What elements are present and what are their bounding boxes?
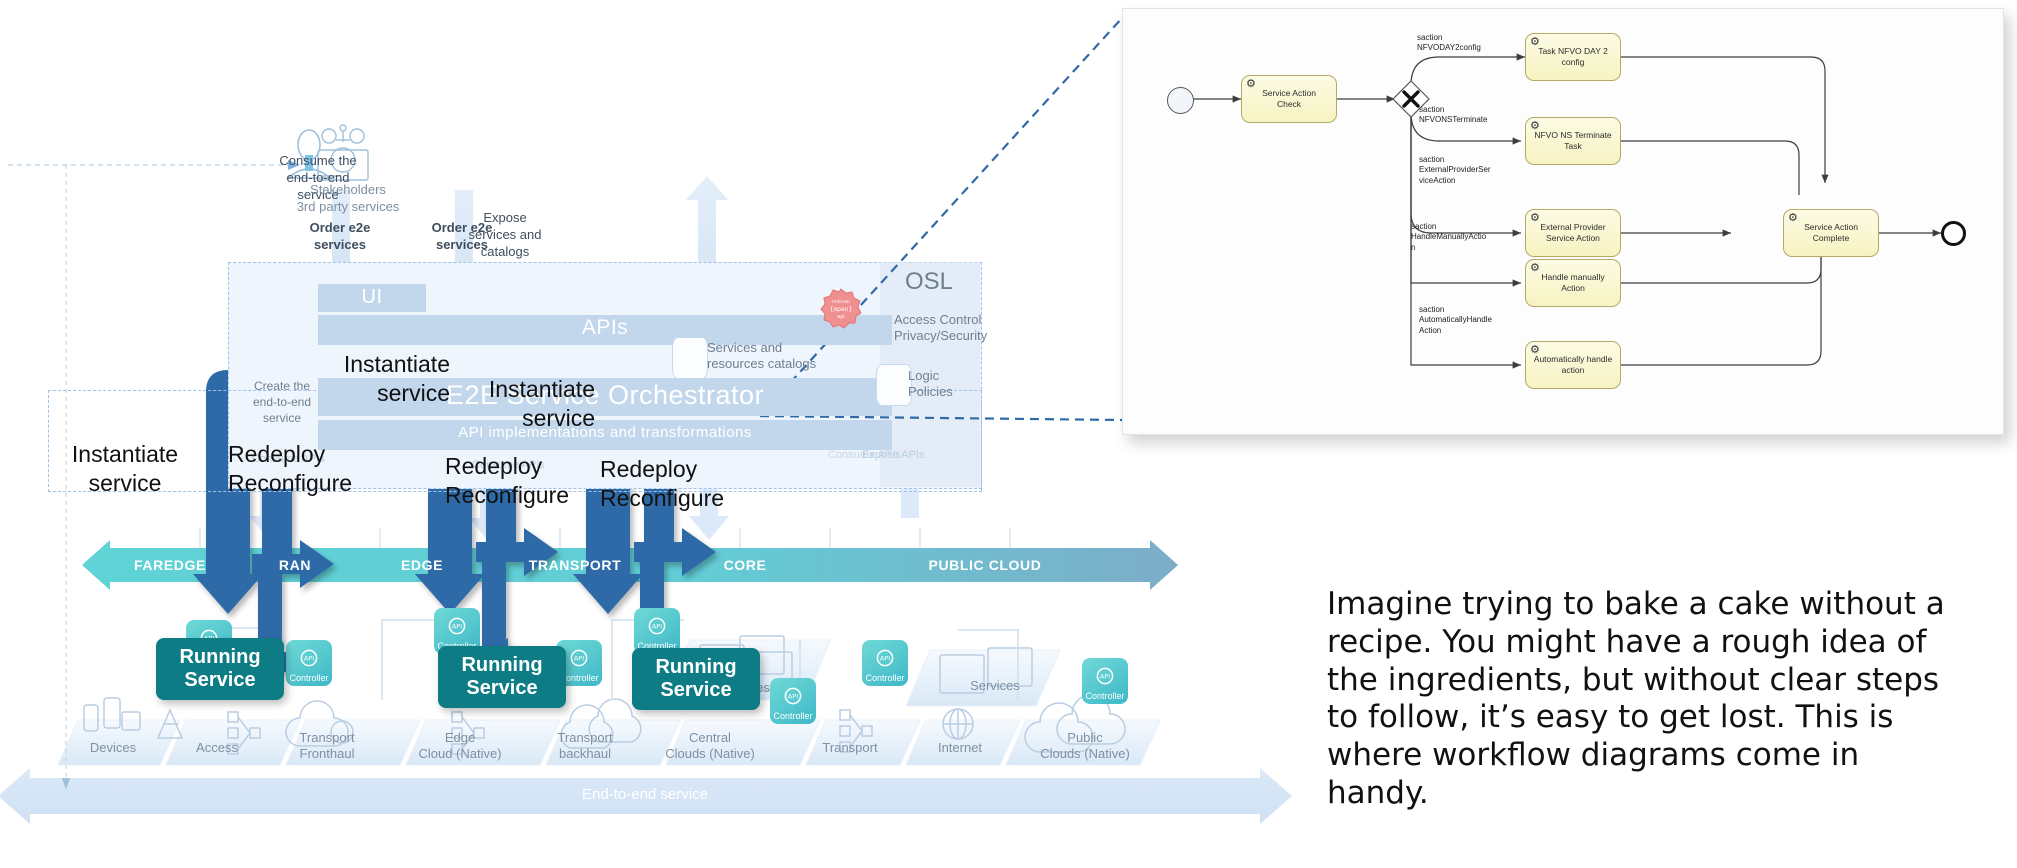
running-service-box-2: Running Service bbox=[438, 646, 566, 708]
infra-label-access: Access bbox=[172, 740, 262, 756]
bpmn-task-nfvo-day2-config[interactable]: ⚙ Task NFVO DAY 2 config bbox=[1525, 33, 1621, 81]
bpmn-task-handle-manually-action[interactable]: ⚙ Handle manually Action bbox=[1525, 259, 1621, 307]
instantiate-service-label-3: Instantiate service bbox=[60, 440, 190, 498]
bpmn-seqflow-label-5: saction AutomaticallyHandle Action bbox=[1419, 305, 1497, 336]
svg-text:tmforum: tmforum bbox=[832, 299, 850, 304]
task-label: Automatically handle action bbox=[1534, 354, 1612, 375]
infra-label-fronthaul: Transport Fronthaul bbox=[272, 730, 382, 763]
bpmn-seqflow-label-4: saction HandleManuallyActio n bbox=[1411, 222, 1489, 253]
logic-policies-cylinder bbox=[876, 364, 912, 406]
bpmn-seqflow-label-2: saction NFVONSTerminate bbox=[1419, 105, 1497, 126]
caption-paragraph: Imagine trying to bake a cake without a … bbox=[1327, 586, 1957, 813]
spectrum-faredge: FAREDGE bbox=[105, 548, 235, 582]
task-label: NFVO NS Terminate Task bbox=[1534, 130, 1611, 151]
infra-label-backhaul: Transport backhaul bbox=[530, 730, 640, 763]
controller-icon-8: API Controller bbox=[1082, 658, 1128, 704]
bpmn-seqflow-label-1: saction NFVODAY2config bbox=[1417, 33, 1495, 54]
infra-label-central-clouds: Central Clouds (Native) bbox=[650, 730, 770, 763]
task-gear-icon: ⚙ bbox=[1788, 213, 1798, 224]
task-label: Task NFVO DAY 2 config bbox=[1538, 46, 1608, 67]
bpmn-task-external-provider-service-action[interactable]: ⚙ External Provider Service Action bbox=[1525, 209, 1621, 257]
svg-text:API: API bbox=[788, 693, 798, 701]
spectrum-labels: FAREDGE RAN EDGE TRANSPORT CORE PUBLIC C… bbox=[105, 548, 1150, 582]
task-gear-icon: ⚙ bbox=[1530, 345, 1540, 356]
controller-label-7: Controller bbox=[865, 673, 904, 683]
end-to-end-service-label: End-to-end service bbox=[0, 786, 1290, 803]
api-gear-icon: API bbox=[566, 645, 592, 671]
services-catalog-label: Services and resources catalogs bbox=[707, 340, 827, 373]
task-gear-icon: ⚙ bbox=[1530, 121, 1540, 132]
infra-label-services: Services bbox=[950, 678, 1040, 694]
expose-apis-label: Expose APIs bbox=[862, 448, 924, 462]
redeploy-reconfigure-label-3: Redeploy Reconfigure bbox=[600, 455, 740, 513]
bpmn-seqflow-label-3: saction ExternalProviderSer viceAction bbox=[1419, 155, 1497, 186]
infra-label-internet: Internet bbox=[910, 740, 1010, 756]
api-gear-icon: API bbox=[780, 683, 806, 709]
api-gear-icon: API bbox=[296, 645, 322, 671]
running-service-box-1: Running Service bbox=[156, 638, 284, 700]
svg-text:API: API bbox=[880, 655, 890, 663]
tmforum-open-api-badge: tmforum {open} api bbox=[820, 288, 862, 330]
bpmn-task-automatically-handle-action[interactable]: ⚙ Automatically handle action bbox=[1525, 341, 1621, 389]
redeploy-reconfigure-label-1: Redeploy Reconfigure bbox=[228, 440, 368, 498]
svg-text:API: API bbox=[304, 655, 314, 663]
infra-label-public-clouds: Public Clouds (Native) bbox=[1020, 730, 1150, 763]
task-label: Service Action Complete bbox=[1804, 222, 1858, 243]
controller-label-2: Controller bbox=[289, 673, 328, 683]
running-service-box-3: Running Service bbox=[632, 648, 760, 710]
task-label: Service Action Check bbox=[1262, 88, 1316, 109]
apis-band-label: APIs bbox=[318, 316, 892, 340]
services-catalog-cylinder bbox=[672, 337, 708, 379]
task-gear-icon: ⚙ bbox=[1530, 213, 1540, 224]
controller-label-6: Controller bbox=[773, 711, 812, 721]
infra-label-devices: Devices bbox=[68, 740, 158, 756]
task-gear-icon: ⚙ bbox=[1530, 263, 1540, 274]
controller-label-8: Controller bbox=[1085, 691, 1124, 701]
svg-text:API: API bbox=[652, 623, 662, 631]
access-control-label: Access Control Privacy/Security bbox=[894, 312, 1004, 345]
infra-label-transport: Transport bbox=[800, 740, 900, 756]
task-gear-icon: ⚙ bbox=[1246, 79, 1256, 90]
spectrum-public-cloud: PUBLIC CLOUD bbox=[895, 548, 1075, 582]
bpmn-task-nfvo-ns-terminate[interactable]: ⚙ NFVO NS Terminate Task bbox=[1525, 117, 1621, 165]
svg-text:API: API bbox=[574, 655, 584, 663]
svg-text:API: API bbox=[452, 623, 462, 631]
spectrum-core: CORE bbox=[685, 548, 805, 582]
ui-band-label: UI bbox=[318, 286, 426, 309]
bpmn-task-service-action-complete[interactable]: ⚙ Service Action Complete bbox=[1783, 209, 1879, 257]
osl-title: OSL bbox=[905, 268, 953, 296]
svg-text:api: api bbox=[837, 314, 845, 320]
expose-services-label: Expose services and catalogs bbox=[450, 210, 560, 261]
spectrum-transport: TRANSPORT bbox=[505, 548, 645, 582]
task-label: Handle manually Action bbox=[1529, 272, 1617, 293]
stakeholders-label: Stakeholders 3rd party services bbox=[268, 182, 428, 216]
infra-label-edge-cloud: Edge Cloud (Native) bbox=[400, 730, 520, 763]
controller-icon-2: API Controller bbox=[286, 640, 332, 686]
logic-policies-label: Logic Policies bbox=[908, 368, 978, 401]
task-label: External Provider Service Action bbox=[1540, 222, 1605, 243]
svg-text:{open}: {open} bbox=[830, 306, 853, 313]
api-implementations-label: API implementations and transformations bbox=[318, 424, 892, 441]
task-gear-icon: ⚙ bbox=[1530, 37, 1540, 48]
api-gear-icon: API bbox=[444, 613, 470, 639]
redeploy-reconfigure-label-2: Redeploy Reconfigure bbox=[445, 452, 585, 510]
instantiate-service-label-1: Instantiate service bbox=[310, 350, 450, 408]
controller-icon-7: API Controller bbox=[862, 640, 908, 686]
architecture-diagram: UI APIs E2E Service Orchestrator API imp… bbox=[0, 0, 1310, 868]
api-gear-icon: API bbox=[644, 613, 670, 639]
controller-icon-6: API Controller bbox=[770, 678, 816, 724]
bpmn-task-service-action-check[interactable]: ⚙ Service Action Check bbox=[1241, 75, 1337, 123]
spectrum-edge: EDGE bbox=[357, 548, 487, 582]
api-gear-icon: API bbox=[872, 645, 898, 671]
bpmn-workflow-panel: ⚙ Service Action Check ⚙ Task NFVO DAY 2… bbox=[1122, 8, 2004, 435]
order-e2e-label-1: Order e2e services bbox=[300, 220, 380, 254]
bpmn-start-event bbox=[1167, 87, 1194, 114]
spectrum-ran: RAN bbox=[245, 548, 345, 582]
bpmn-end-event bbox=[1941, 221, 1966, 246]
api-gear-icon: API bbox=[1092, 663, 1118, 689]
svg-text:API: API bbox=[1100, 673, 1110, 681]
instantiate-service-label-2: Instantiate service bbox=[455, 375, 595, 433]
